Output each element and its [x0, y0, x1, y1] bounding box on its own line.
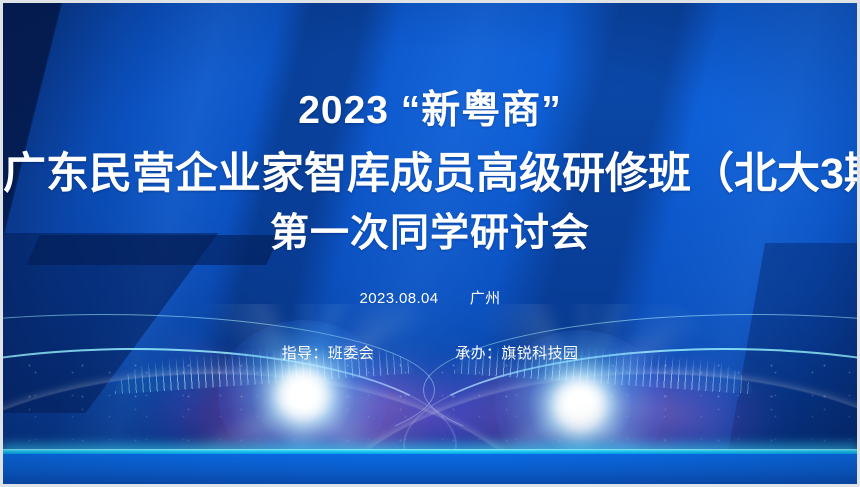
- event-date: 2023.08.04: [359, 290, 438, 307]
- event-location: 广州: [470, 290, 501, 307]
- credit-guidance: 指导：班委会: [282, 345, 374, 362]
- poster-title-line-1: 2023 “新粤商”: [3, 91, 857, 130]
- poster-title-line-2: 广东民营企业家智库成员高级研修班（北大3期）: [3, 153, 857, 196]
- poster-text-block: 2023 “新粤商” 广东民营企业家智库成员高级研修班（北大3期） 第一次同学研…: [3, 3, 857, 484]
- poster-title-line-3: 第一次同学研讨会: [3, 214, 857, 253]
- credit-organizer: 承办：旗锐科技园: [455, 345, 578, 362]
- poster-credits: 指导：班委会 承办：旗锐科技园: [3, 342, 857, 363]
- event-poster: 2023 “新粤商” 广东民营企业家智库成员高级研修班（北大3期） 第一次同学研…: [0, 0, 860, 487]
- poster-date-location: 2023.08.04 广州: [3, 287, 857, 308]
